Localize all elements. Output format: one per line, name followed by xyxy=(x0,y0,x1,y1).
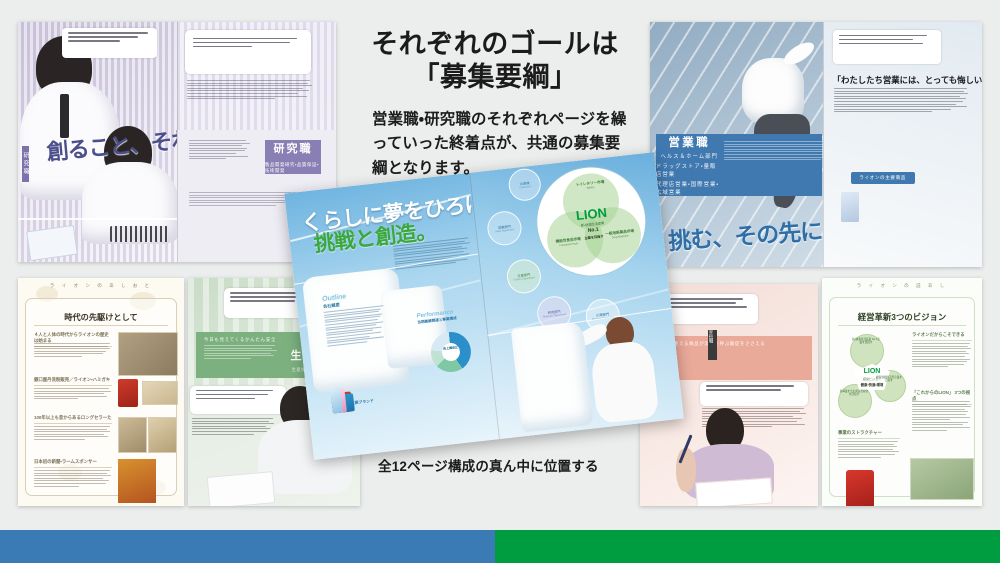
dept-circle-factory: 生産部門 Factory Department xyxy=(505,258,543,296)
page-title: それぞれのゴールは 「募集要綱」 xyxy=(364,28,626,95)
sales-page-left: 営業職 ヘルス＆ホーム部門 ドラッグストア・量販店営業 代理店営業・国際営業・広… xyxy=(650,22,823,267)
speech-balloon-marketing-2 xyxy=(700,382,808,406)
history-photo-4 xyxy=(148,417,177,453)
marketing-band-title: 使える商品が実感を呼ぶ販促をささえる xyxy=(674,341,804,347)
vision-header: ラ イ オ ン の 証 あ し xyxy=(822,283,982,289)
speech-balloon-production-2 xyxy=(190,386,286,414)
vision-circle-1: 新・快適生活産業 No.1企業を目指す xyxy=(851,338,881,345)
sales-body-copy xyxy=(834,88,970,114)
center-page-left: くらしに夢をひろげる、 挑戦と創造。 Outline 会社概要 xyxy=(284,173,499,460)
sales-page-right: 「わたしたち営業には、とっても悔しい。」 ライオンの主要商品 xyxy=(823,22,982,267)
history-section-3: 100年以上も昔からあるロングセラーた xyxy=(34,415,112,424)
center-brochure-spread[interactable]: くらしに夢をひろげる、 挑戦と創造。 Outline 会社概要 xyxy=(284,152,684,460)
center-page-right: LION 新・快適生活産業 No.1 企業を目指す トイレタリー市場 Toile… xyxy=(469,152,684,439)
sales-tab-label: 営業職 xyxy=(668,134,710,150)
history-title: 時代の先駆けとして xyxy=(26,311,176,323)
sales-quote-title: 「わたしたち営業には、とっても悔しい。」 xyxy=(833,74,982,86)
footer-color-bar xyxy=(0,530,1000,563)
vision-diagram: LION 経営ビジョン 健康・快適・環境 新・快適生活産業 No.1企業を目指す… xyxy=(836,332,908,424)
brochure-vision-page[interactable]: ラ イ オ ン の 証 あ し 経営革新3つのビジョン LION 経営ビジョン … xyxy=(822,278,982,506)
speech-balloon-sales xyxy=(833,30,941,64)
sales-badge: ライオンの主要商品 xyxy=(851,172,915,184)
speech-balloon-marketing-1 xyxy=(658,294,758,324)
sales-tab-copy xyxy=(724,141,822,162)
headline-line-1: それぞれのゴールは xyxy=(364,28,626,61)
presentation-slide: それぞれのゴールは 「募集要綱」 営業職・研究職のそれぞれページを繰っていった終… xyxy=(0,0,1000,563)
slide-caption: 全12ページ構成の真ん中に位置する xyxy=(378,455,638,475)
footer-bar-blue xyxy=(0,530,495,563)
research-page-left: 創ること、それは叶えること。 研究職 xyxy=(18,22,177,262)
production-band-title: 今日も見えてくるかんたん安全 xyxy=(204,337,278,343)
sales-tab-sub: ヘルス＆ホーム部門 xyxy=(661,152,718,160)
marketing-side-tab: 宣伝職 xyxy=(708,330,717,360)
brochure-history-page[interactable]: ラ イ オ ン の あ し お と 時代の先駆けとして ４人と人体の時代からライ… xyxy=(18,278,184,506)
vision-circle-3: 新事業を含む成長型経営を目指す xyxy=(839,390,869,397)
speech-balloon-research xyxy=(62,28,157,58)
sales-tab-sub2: ドラッグストア・量販店営業 xyxy=(656,162,722,178)
vision-section-3: 事業のストラクチャー xyxy=(838,430,900,439)
research-side-tab: 研究職 xyxy=(22,146,29,182)
marketing-notebook xyxy=(695,477,773,506)
sales-job-tab[interactable]: 営業職 ヘルス＆ホーム部門 ドラッグストア・量販店営業 代理店営業・国際営業・広… xyxy=(656,134,822,196)
dept-circle-sales: 営業部門 Sales Department xyxy=(486,209,524,247)
vision-product-bottle xyxy=(846,470,874,506)
necktie-icon xyxy=(60,94,69,138)
sales-tab-sub3: 代理店営業・国際営業・広域営業 xyxy=(656,180,722,196)
vision-circle-2: 顧客価値創造型企業を目指す xyxy=(875,376,903,383)
brochure-sales-spread[interactable]: 営業職 ヘルス＆ホーム部門 ドラッグストア・量販店営業 代理店営業・国際営業・広… xyxy=(650,22,982,267)
hanging-sheet xyxy=(511,321,594,432)
vision-photo xyxy=(910,458,974,500)
history-section-4: 日本初の新聞・ラームスポンサー xyxy=(34,459,112,468)
research-body-copy xyxy=(187,80,313,101)
lead-paragraph: 営業職・研究職のそれぞれページを繰っていった終着点が、共通の募集要綱となります。 xyxy=(372,108,628,181)
research-subcopy xyxy=(189,140,251,161)
research-tab-sub: 製品開発研究・品質保証・技術開発 xyxy=(265,162,321,174)
history-header: ラ イ オ ン の あ し お と xyxy=(18,283,184,289)
research-tab-label: 研究職 xyxy=(274,140,313,156)
history-product-tin xyxy=(118,379,138,407)
keyboard-icon xyxy=(110,226,168,242)
vision-lion-mark: LION xyxy=(856,368,888,375)
history-poster xyxy=(118,459,156,503)
footer-bar-green xyxy=(495,530,1000,563)
vision-center-line: 健康・快適・環境 xyxy=(850,382,894,387)
vision-title: 経営革新3つのビジョン xyxy=(830,311,974,323)
production-document xyxy=(207,471,276,506)
history-photo-1 xyxy=(118,332,178,376)
history-photo-2 xyxy=(142,381,178,405)
marketing-band: 使える商品が実感を呼ぶ販促をささえる xyxy=(666,336,812,380)
quote-balloon-research xyxy=(185,30,311,74)
research-job-tab[interactable]: 研究職 製品開発研究・品質保証・技術開発 xyxy=(265,140,321,174)
history-section-2: 銀口屋丹洗粉販売／ライオン・ハミガキ xyxy=(34,377,112,386)
vision-section-1: ライオンだからこそできる xyxy=(912,332,972,341)
headline-line-2: 「募集要綱」 xyxy=(364,61,626,94)
history-photo-3 xyxy=(118,417,147,453)
